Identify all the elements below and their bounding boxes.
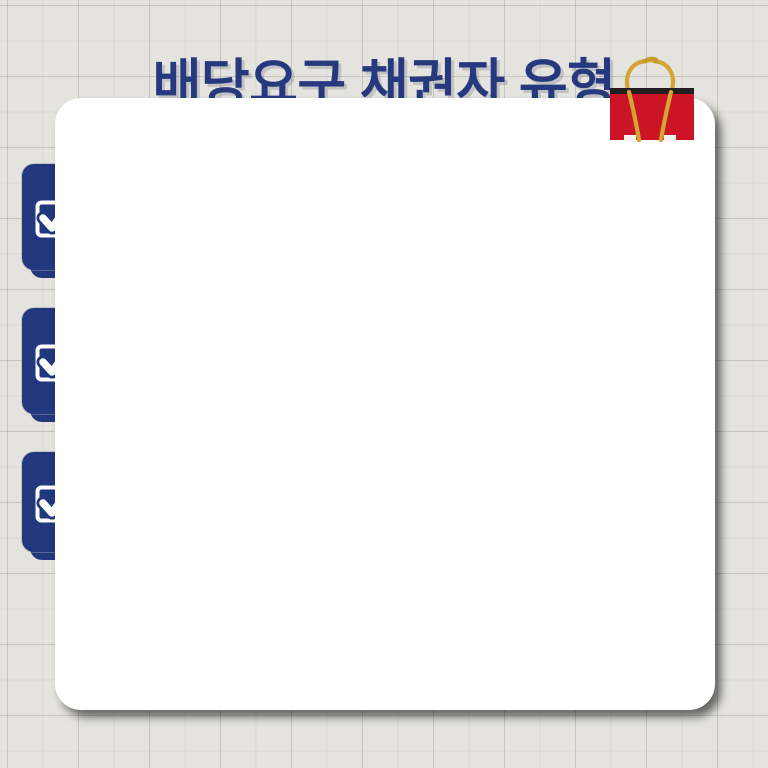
binder-clip-icon: [606, 40, 698, 142]
content-card: [55, 98, 715, 710]
infographic-page: 배당요구 채권자 유형 집행력 있는 정본을 가진 채권자: [0, 0, 768, 768]
